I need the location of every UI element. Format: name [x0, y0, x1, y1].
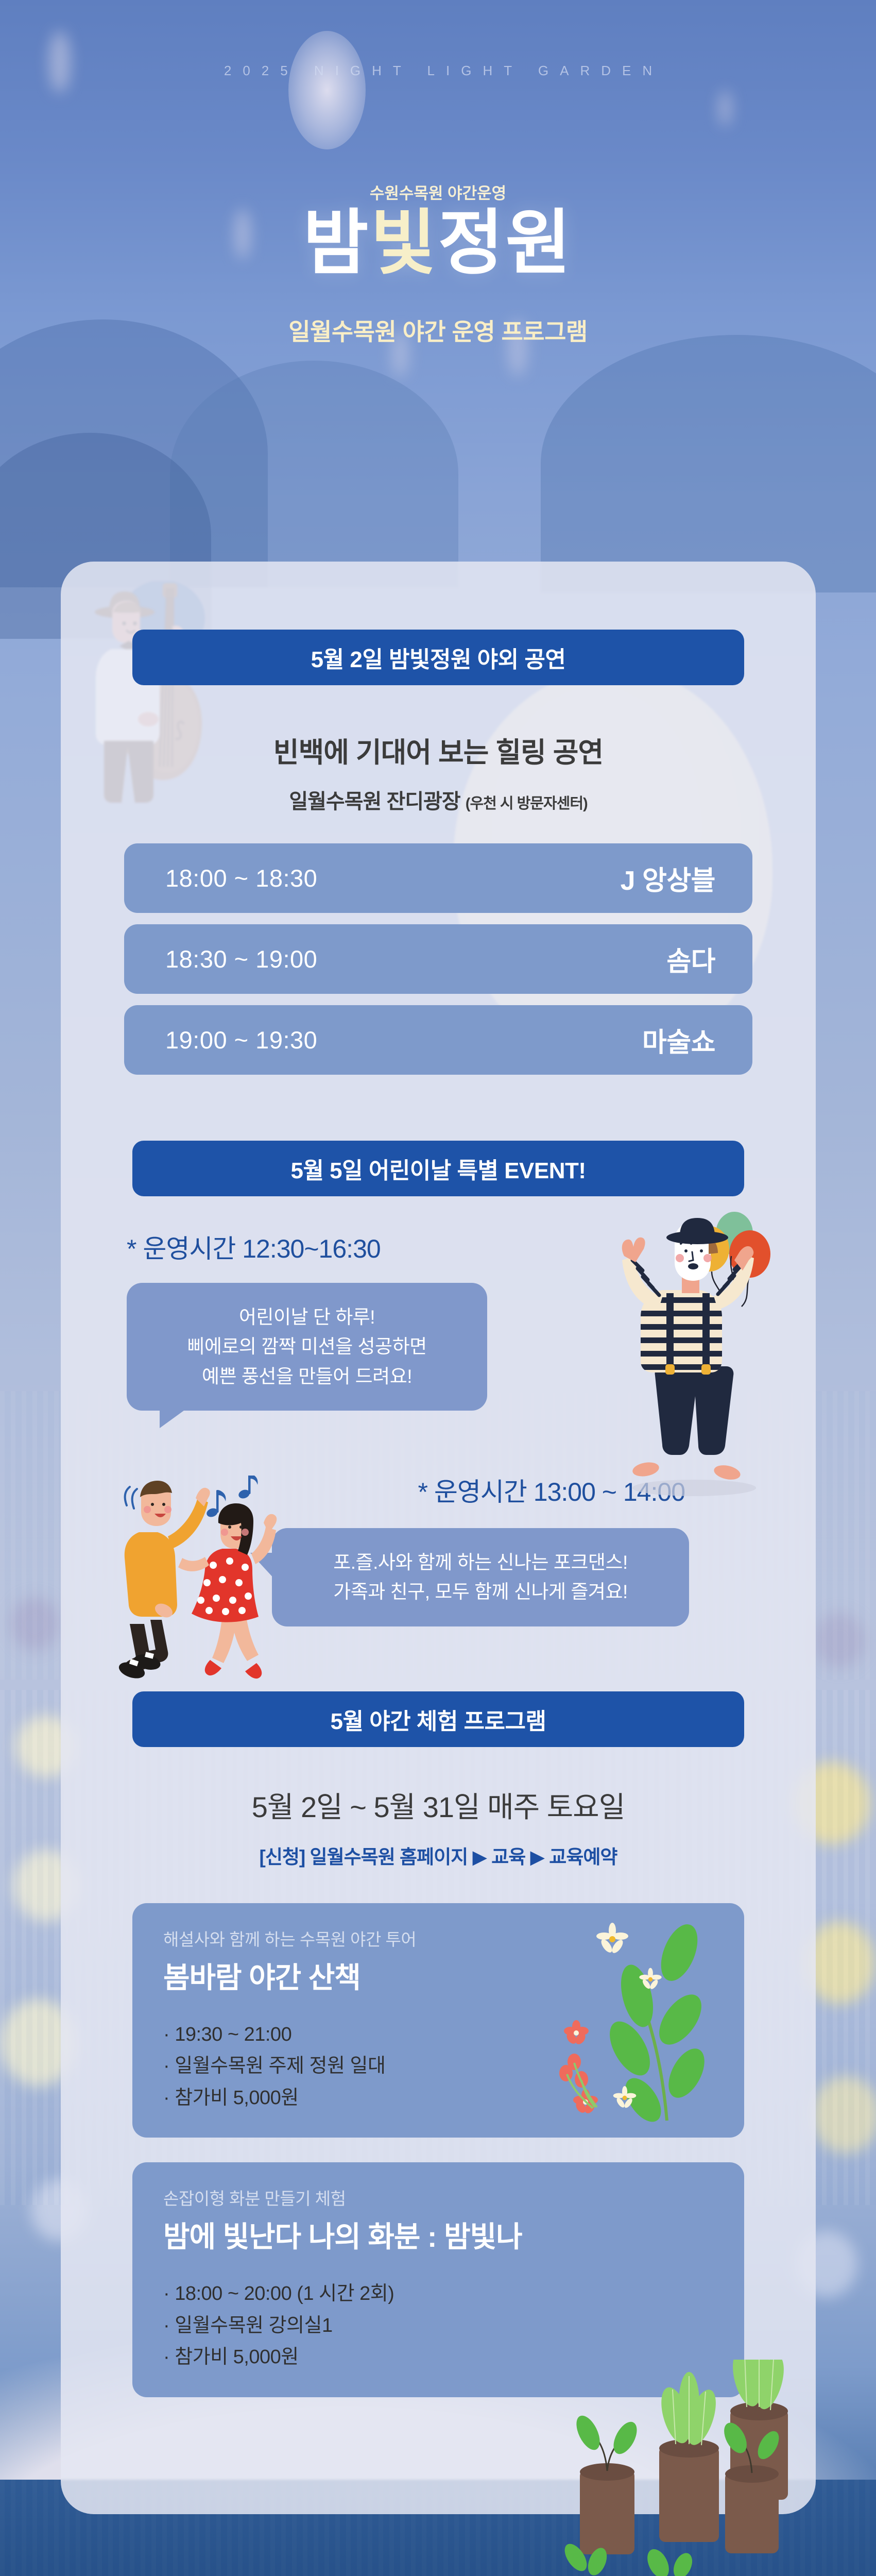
schedule-row: 19:00 ~ 19:30 마술쇼	[124, 1005, 752, 1075]
section-heading-childrensday: 5월 5일 어린이날 특별 EVENT!	[132, 1141, 744, 1196]
childrensday-event1-bubble: 어린이날 단 하루! 삐에로의 깜짝 미션을 성공하면 예쁜 풍선을 만들어 드…	[127, 1283, 487, 1411]
section-heading-nightprograms: 5월 야간 체험 프로그램	[132, 1691, 744, 1747]
bubble-line: 어린이날 단 하루!	[153, 1302, 460, 1332]
schedule-act: 마술쇼	[642, 1021, 715, 1059]
poster-root: 2025 NIGHT LIGHT GARDEN 수원수목원 야간운영 밤빛정원 …	[0, 0, 876, 2576]
program-detail: · 일월수목원 강의실1	[163, 2310, 713, 2342]
bokeh-light	[718, 90, 732, 126]
section-heading-outdoor-label: 5월 2일 밤빛정원 야외 공연	[311, 641, 566, 674]
program-card-title: 밤에 빛난다 나의 화분 : 밤빛나	[163, 2214, 713, 2256]
bubble-line: 예쁜 풍선을 만들어 드려요!	[153, 1362, 460, 1391]
outdoor-venue: 일월수목원 잔디광장	[289, 790, 460, 813]
hill-shape	[170, 361, 458, 587]
program-card: 해설사와 함께 하는 수목원 야간 투어 봄바람 야간 산책 · 19:30 ~…	[132, 1903, 744, 2138]
mime-with-balloons-illustration	[602, 1212, 787, 1500]
bokeh-light	[49, 31, 71, 93]
schedule-row: 18:30 ~ 19:00 솜다	[124, 924, 752, 994]
section-heading-childrensday-label: 5월 5일 어린이날 특별 EVENT!	[290, 1152, 586, 1185]
bubble-line: 가족과 친구, 모두 함께 신나게 즐겨요!	[299, 1577, 662, 1606]
childrensday-event2-bubble: 포.즐.사와 함께 하는 신나는 포크댄스! 가족과 친구, 모두 함께 신나게…	[272, 1528, 689, 1626]
page-title: 밤빛정원	[0, 206, 876, 281]
night-programs-period: 5월 2일 ~ 5월 31일 매주 토요일	[61, 1784, 816, 1826]
bokeh-light	[811, 2076, 876, 2154]
schedule-row: 18:00 ~ 18:30 J 앙상블	[124, 843, 752, 913]
section-heading-outdoor: 5월 2일 밤빛정원 야외 공연	[132, 630, 744, 685]
childrensday-event1-hours: * 운영시간 12:30~16:30	[127, 1234, 381, 1263]
bokeh-light	[10, 1597, 60, 1651]
title-part-1: 밤	[303, 204, 371, 283]
outdoor-venue-line: 일월수목원 잔디광장 (우천 시 방문자센터)	[61, 785, 816, 815]
bokeh-light	[814, 1613, 865, 1668]
outdoor-headline: 빈백에 기대어 보는 힐링 공연	[61, 730, 816, 770]
kicker-text: 수원수목원 야간운영	[370, 184, 506, 202]
bubble-line: 삐에로의 깜짝 미션을 성공하면	[153, 1332, 460, 1361]
schedule-act: J 앙상블	[621, 859, 715, 897]
eyebrow-text: 2025 NIGHT LIGHT GARDEN	[0, 63, 876, 79]
potted-plants-illustration	[561, 2360, 803, 2576]
program-card-tag: 손잡이형 화분 만들기 체험	[163, 2185, 713, 2210]
section-heading-nightprograms-label: 5월 야간 체험 프로그램	[331, 1703, 546, 1736]
title-accent: 빛	[371, 204, 438, 283]
program-detail: · 18:00 ~ 20:00 (1 시간 2회)	[163, 2278, 713, 2310]
hill-shape	[541, 335, 876, 592]
kicker-wrap: 수원수목원 야간운영	[0, 180, 876, 204]
dancing-couple-illustration	[114, 1476, 331, 1687]
flower-sprig-icon	[557, 1919, 727, 2125]
title-part-2: 정원	[438, 204, 573, 283]
schedule-time: 19:00 ~ 19:30	[165, 1026, 317, 1054]
schedule-act: 솜다	[666, 940, 715, 978]
page-subtitle: 일월수목원 야간 운영 프로그램	[0, 313, 876, 347]
outdoor-venue-note: (우천 시 방문자센터)	[466, 795, 588, 812]
bubble-line: 포.즐.사와 함께 하는 신나는 포크댄스!	[299, 1548, 662, 1577]
hill-shape	[0, 319, 268, 587]
schedule-time: 18:30 ~ 19:00	[165, 945, 317, 973]
schedule-time: 18:00 ~ 18:30	[165, 864, 317, 892]
moon-glow-icon	[288, 31, 366, 149]
night-programs-apply: [신청] 일월수목원 홈페이지 ▶ 교육 ▶ 교육예약	[61, 1841, 816, 1869]
